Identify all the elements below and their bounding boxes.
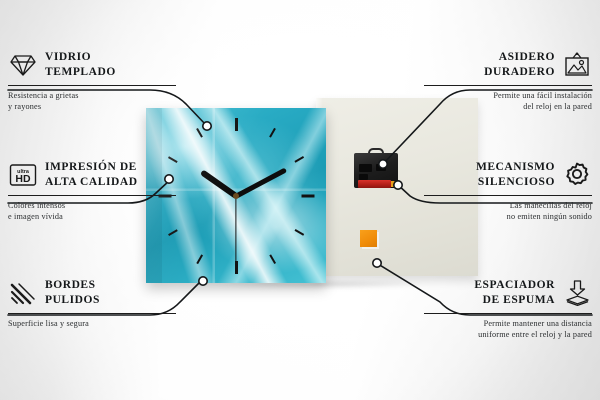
tick-mark-3: [301, 194, 314, 197]
tick-mark-12: [235, 118, 238, 131]
tick-mark-4: [294, 229, 304, 236]
feature-divider: [8, 313, 176, 314]
feature-divider: [8, 85, 176, 86]
ultra-hd-icon-main: HD: [15, 173, 31, 185]
feature-description: Permite una fácil instalación del reloj …: [424, 90, 592, 113]
mechanism-port: [376, 164, 386, 171]
feature-description: Colores intensos e imagen vívida: [8, 200, 176, 223]
feature-vidrio-templado: VIDRIO TEMPLADO Resistencia a grietas y …: [8, 48, 176, 113]
clock-hands-cap: [233, 193, 239, 199]
feature-header: ultra HD IMPRESIÓN DE ALTA CALIDAD: [8, 158, 176, 192]
tick-mark-11: [196, 127, 203, 137]
ultra-hd-icon: ultra HD: [8, 160, 38, 190]
feature-espaciador-de-espuma: ESPACIADOR DE ESPUMA Permite mantener un…: [424, 276, 592, 341]
clock-second-hand: [235, 196, 236, 268]
feature-mecanismo-silencioso: MECANISMO SILENCIOSO Las manecillas del …: [424, 158, 592, 223]
feature-header: ESPACIADOR DE ESPUMA: [424, 276, 592, 310]
clock-hour-hand: [200, 169, 238, 198]
clock-minute-hand: [235, 167, 287, 198]
feature-impresion-alta-calidad: ultra HD IMPRESIÓN DE ALTA CALIDAD Color…: [8, 158, 176, 223]
feature-divider: [424, 195, 592, 196]
tick-mark-1: [269, 127, 276, 137]
feature-bordes-pulidos: BORDES PULIDOS Superficie lisa y segura: [8, 276, 176, 329]
feature-divider: [424, 313, 592, 314]
tick-mark-7: [196, 254, 203, 264]
feature-header: BORDES PULIDOS: [8, 276, 176, 310]
feature-header: VIDRIO TEMPLADO: [8, 48, 176, 82]
mechanism-body: [354, 153, 398, 188]
gear-icon: [562, 160, 592, 190]
feature-title: VIDRIO TEMPLADO: [45, 50, 116, 79]
foam-spacer: [360, 230, 377, 247]
feature-description: Las manecillas del reloj no emiten ningú…: [424, 200, 592, 223]
picture-frame-hanger-icon: [562, 50, 592, 80]
feature-description: Superficie lisa y segura: [8, 318, 176, 329]
tick-mark-5: [269, 254, 276, 264]
feature-title: MECANISMO SILENCIOSO: [476, 160, 555, 189]
feature-divider: [424, 85, 592, 86]
arrow-down-layers-icon: [562, 278, 592, 308]
feature-header: ASIDERO DURADERO: [424, 48, 592, 82]
diamond-icon: [8, 50, 38, 80]
feature-title: IMPRESIÓN DE ALTA CALIDAD: [45, 160, 138, 189]
feature-description: Permite mantener una distancia uniforme …: [424, 318, 592, 341]
feature-title: BORDES PULIDOS: [45, 278, 100, 307]
clock-mechanism: [354, 148, 398, 188]
aa-battery: [358, 180, 391, 188]
infographic-canvas: VIDRIO TEMPLADO Resistencia a grietas y …: [0, 0, 600, 400]
tick-mark-8: [168, 229, 178, 236]
tick-mark-2: [294, 156, 304, 163]
feature-title: ESPACIADOR DE ESPUMA: [474, 278, 555, 307]
feature-description: Resistencia a grietas y rayones: [8, 90, 176, 113]
polished-edges-icon: [8, 278, 38, 308]
feature-divider: [8, 195, 176, 196]
feature-title: ASIDERO DURADERO: [484, 50, 555, 79]
feature-asidero-duradero: ASIDERO DURADERO Permite una fácil insta…: [424, 48, 592, 113]
mechanism-port: [359, 164, 372, 172]
feature-header: MECANISMO SILENCIOSO: [424, 158, 592, 192]
battery-terminal: [391, 181, 395, 187]
